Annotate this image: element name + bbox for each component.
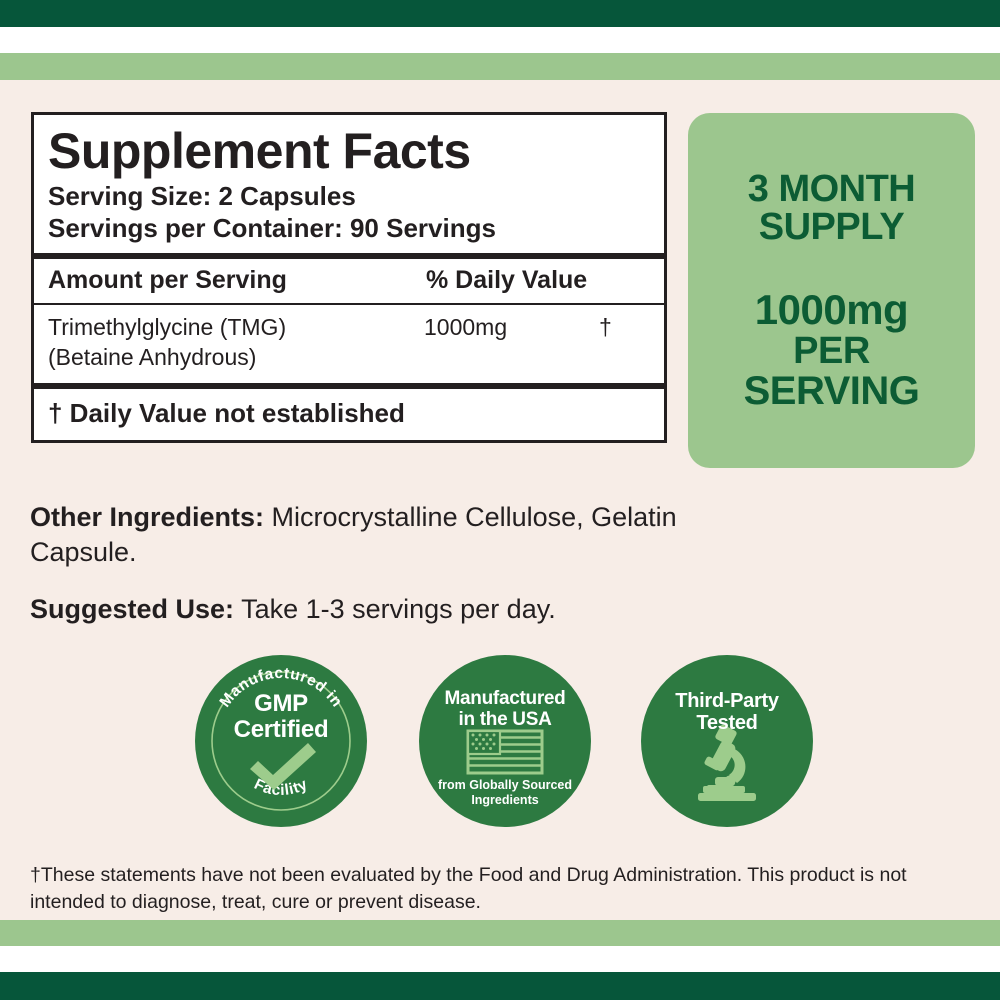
usa-badge-subtitle-line1: from Globally Sourced bbox=[419, 778, 591, 793]
servings-per-container: Servings per Container: 90 Servings bbox=[48, 212, 664, 244]
badge-made-in-usa: Manufactured in the USA from Globally So… bbox=[419, 655, 591, 827]
usa-badge-title-line1: Manufactured bbox=[419, 689, 591, 710]
top-light-green-band bbox=[0, 53, 1000, 80]
suggested-use-label: Suggested Use: bbox=[30, 594, 234, 624]
product-info-spacer bbox=[30, 570, 690, 592]
supplement-facts-title: Supplement Facts bbox=[34, 115, 664, 180]
gmp-badge-title-line2: Certified bbox=[195, 717, 367, 743]
trust-badges: Manufactured in Facility GMP Certified bbox=[185, 655, 825, 835]
usa-badge-subtitle: from Globally Sourced Ingredients bbox=[419, 778, 591, 808]
usa-badge-subtitle-line2: Ingredients bbox=[419, 793, 591, 808]
other-ingredients: Other Ingredients: Microcrystalline Cell… bbox=[30, 500, 690, 570]
daily-value-footnote: † Daily Value not established bbox=[34, 389, 664, 440]
product-info: Other Ingredients: Microcrystalline Cell… bbox=[30, 500, 690, 627]
fda-disclaimer: †These statements have not been evaluate… bbox=[30, 862, 975, 916]
supply-callout: 3 MONTH SUPPLY 1000mg PER SERVING bbox=[688, 113, 975, 468]
bottom-light-green-band bbox=[0, 920, 1000, 946]
serving-size: Serving Size: 2 Capsules bbox=[48, 180, 664, 212]
bottom-white-band bbox=[0, 946, 1000, 972]
column-header-amount: Amount per Serving bbox=[48, 266, 426, 295]
gmp-badge-title: GMP Certified bbox=[195, 691, 367, 743]
badge-gmp-certified: Manufactured in Facility GMP Certified bbox=[195, 655, 367, 827]
ingredient-name-line1: Trimethylglycine (TMG) bbox=[48, 313, 408, 343]
supplement-facts-panel: Supplement Facts Serving Size: 2 Capsule… bbox=[31, 112, 667, 443]
suggested-use-value: Take 1-3 servings per day. bbox=[241, 594, 556, 624]
facts-column-headers: Amount per Serving % Daily Value bbox=[34, 259, 664, 303]
microscope-icon bbox=[698, 724, 756, 801]
third-party-badge-title: Third-Party Tested bbox=[641, 691, 813, 734]
gmp-badge-title-line1: GMP bbox=[195, 691, 367, 717]
supply-dose-serving: SERVING bbox=[744, 371, 920, 412]
supply-duration: 3 MONTH SUPPLY bbox=[748, 170, 916, 248]
usa-flag-icon bbox=[468, 731, 542, 773]
top-white-band bbox=[0, 27, 1000, 53]
ingredient-name-line2: (Betaine Anhydrous) bbox=[48, 343, 408, 373]
bottom-dark-green-band bbox=[0, 972, 1000, 1000]
serving-info-spacer bbox=[34, 244, 664, 253]
supply-duration-line1: 3 MONTH bbox=[748, 170, 916, 209]
third-party-badge-title-line1: Third-Party bbox=[641, 691, 813, 713]
top-dark-green-band bbox=[0, 0, 1000, 27]
supply-dose-amount: 1000mg bbox=[755, 286, 908, 333]
usa-badge-title: Manufactured in the USA bbox=[419, 689, 591, 730]
third-party-badge-title-line2: Tested bbox=[641, 713, 813, 735]
ingredient-daily-value: † bbox=[599, 313, 612, 343]
usa-badge-title-line2: in the USA bbox=[419, 710, 591, 731]
column-header-daily-value: % Daily Value bbox=[426, 266, 587, 295]
suggested-use: Suggested Use: Take 1-3 servings per day… bbox=[30, 592, 690, 627]
other-ingredients-label: Other Ingredients: bbox=[30, 502, 264, 532]
supply-dose-per: PER bbox=[744, 332, 920, 371]
supply-duration-line2: SUPPLY bbox=[748, 208, 916, 247]
serving-info: Serving Size: 2 Capsules Servings per Co… bbox=[34, 180, 664, 244]
supply-dose: 1000mg PER SERVING bbox=[744, 289, 920, 411]
ingredient-name: Trimethylglycine (TMG) (Betaine Anhydrou… bbox=[48, 313, 408, 373]
third-party-badge-graphics bbox=[641, 655, 813, 827]
ingredient-amount: 1000mg bbox=[424, 313, 507, 343]
table-row: Trimethylglycine (TMG) (Betaine Anhydrou… bbox=[34, 305, 664, 383]
badge-third-party-tested: Third-Party Tested bbox=[641, 655, 813, 827]
